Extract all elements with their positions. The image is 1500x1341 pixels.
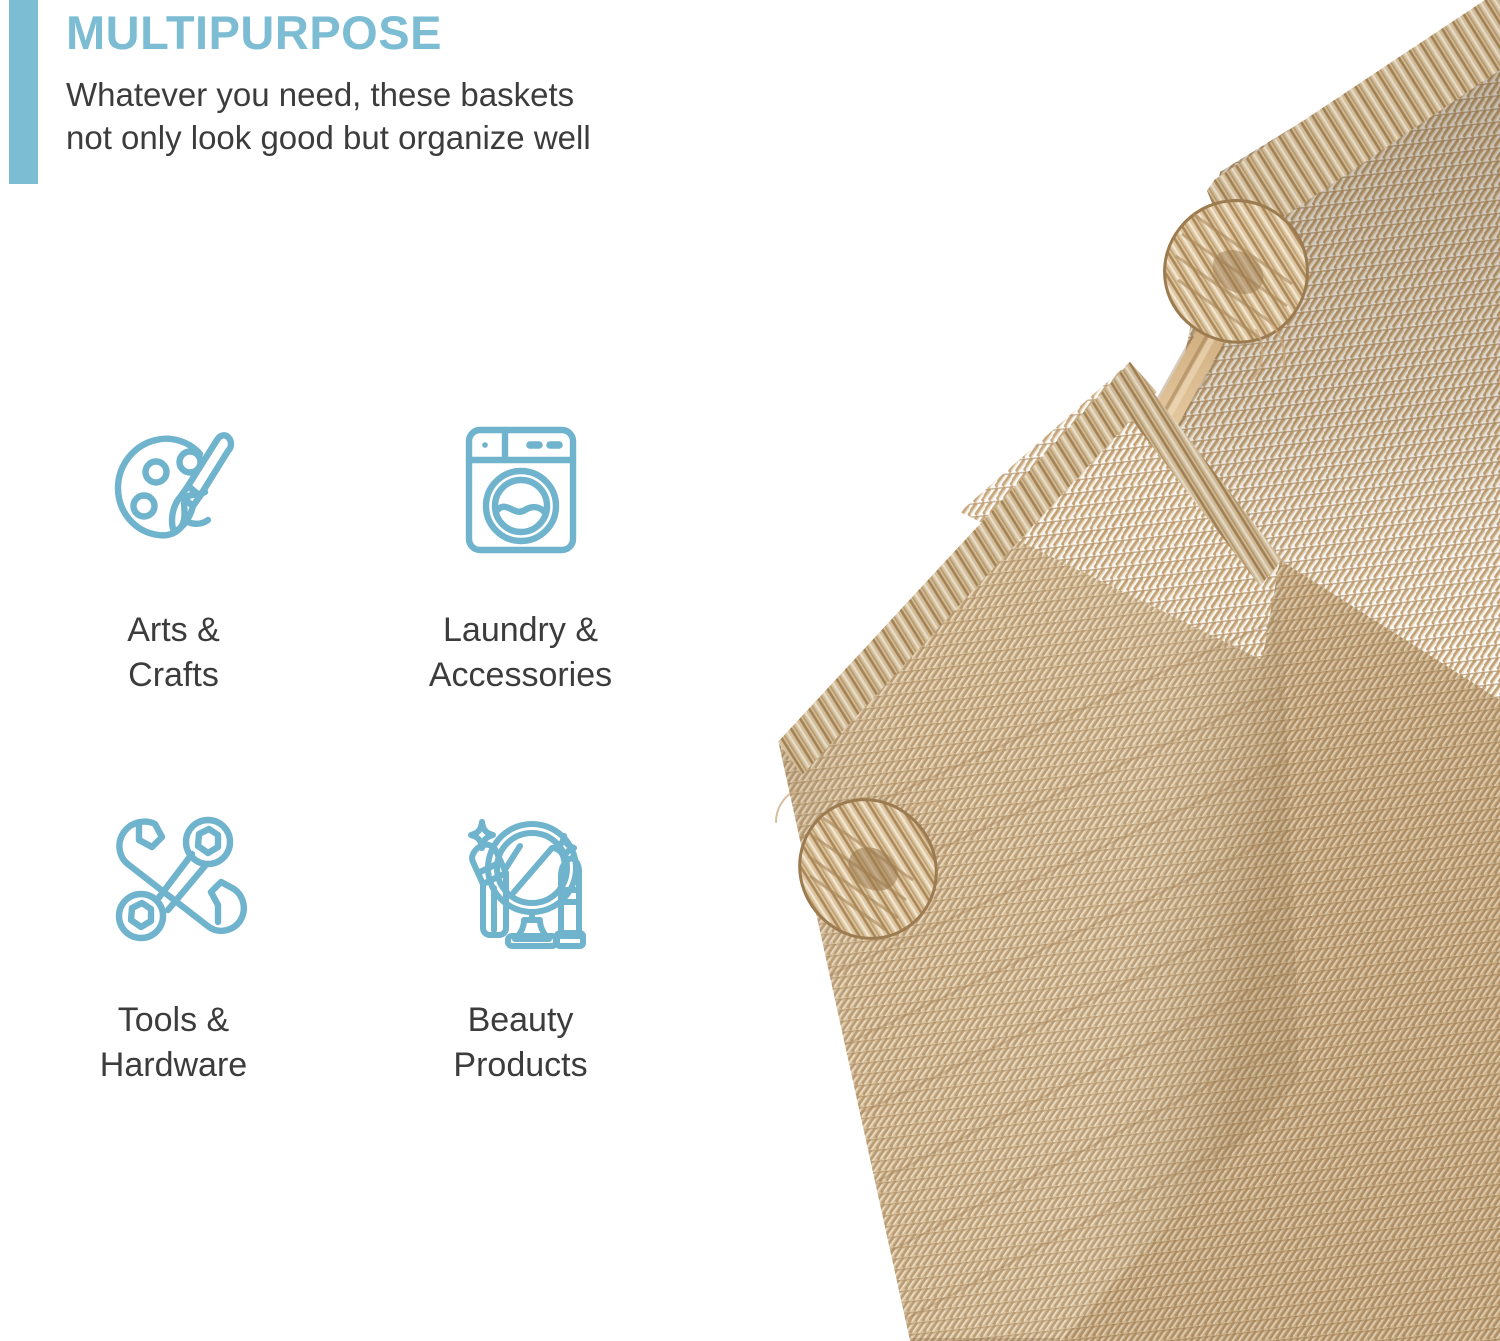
feature-label-laundry-accessories: Laundry & Accessories [429, 608, 612, 698]
header-text-block: MULTIPURPOSE Whatever you need, these ba… [66, 0, 746, 160]
feature-label-line-1: Laundry & [429, 608, 612, 653]
feature-label-tools-hardware: Tools & Hardware [100, 998, 247, 1088]
feature-item-tools-hardware: Tools & Hardware [0, 790, 347, 1180]
subtitle-line-2: not only look good but organize well [66, 117, 746, 160]
multipurpose-feature-panel: MULTIPURPOSE Whatever you need, these ba… [0, 0, 1500, 1341]
feature-label-arts-crafts: Arts & Crafts [127, 608, 220, 698]
accent-bar [9, 0, 38, 184]
feature-label-line-2: Hardware [100, 1043, 247, 1088]
feature-grid: Arts & Crafts [0, 400, 680, 1180]
subtitle-line-1: Whatever you need, these baskets [66, 74, 746, 117]
washing-machine-icon [446, 400, 596, 580]
feature-item-arts-crafts: Arts & Crafts [0, 400, 347, 790]
feature-label-line-1: Arts & [127, 608, 220, 653]
header: MULTIPURPOSE Whatever you need, these ba… [0, 0, 760, 200]
art-palette-icon [99, 400, 249, 580]
crossed-wrenches-icon [99, 790, 249, 970]
feature-label-line-2: Crafts [127, 653, 220, 698]
feature-item-beauty-products: Beauty Products [347, 790, 694, 1180]
subtitle: Whatever you need, these baskets not onl… [66, 57, 746, 160]
feature-label-line-2: Accessories [429, 653, 612, 698]
feature-label-line-1: Beauty [453, 998, 587, 1043]
feature-label-line-2: Products [453, 1043, 587, 1088]
product-photo-basket [660, 0, 1500, 1341]
feature-item-laundry-accessories: Laundry & Accessories [347, 400, 694, 790]
vanity-mirror-makeup-icon [446, 790, 596, 970]
feature-label-line-1: Tools & [100, 998, 247, 1043]
page-title: MULTIPURPOSE [66, 0, 746, 57]
feature-label-beauty-products: Beauty Products [453, 998, 587, 1088]
